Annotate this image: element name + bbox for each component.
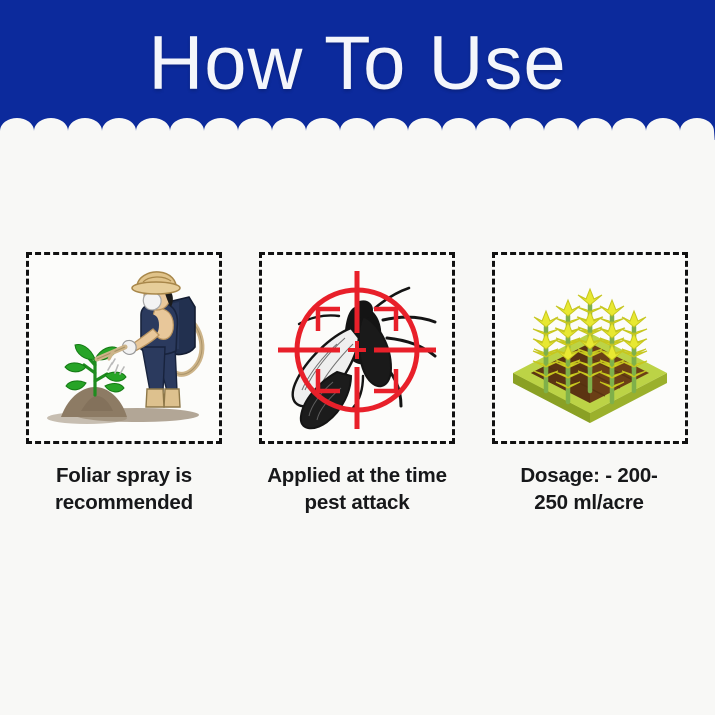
scalloped-edge-decoration <box>0 118 715 144</box>
steps-card-row <box>26 252 688 444</box>
card-pest-attack[interactable] <box>259 252 455 444</box>
card-dosage[interactable] <box>492 252 688 444</box>
caption-foliar-spray: Foliar spray is recommended <box>9 462 239 516</box>
caption-line: Applied at the time <box>242 462 472 489</box>
card-captions: Foliar spray is recommended Applied at t… <box>0 462 715 532</box>
caption-line: 250 ml/acre <box>474 489 704 516</box>
caption-line: Foliar spray is <box>9 462 239 489</box>
caption-line: pest attack <box>242 489 472 516</box>
page-root: How To Use <box>0 0 715 715</box>
caption-dosage: Dosage: - 200- 250 ml/acre <box>474 462 704 516</box>
page-header: How To Use <box>0 0 715 140</box>
caption-line: Dosage: - 200- <box>474 462 704 489</box>
caption-line: recommended <box>9 489 239 516</box>
page-title: How To Use <box>0 0 715 128</box>
card-foliar-spray[interactable] <box>26 252 222 444</box>
farmer-knapsack-sprayer-icon <box>29 255 219 441</box>
isometric-crop-field-icon <box>495 255 685 441</box>
insect-crosshair-target-icon <box>262 255 452 441</box>
caption-pest-attack: Applied at the time pest attack <box>242 462 472 516</box>
